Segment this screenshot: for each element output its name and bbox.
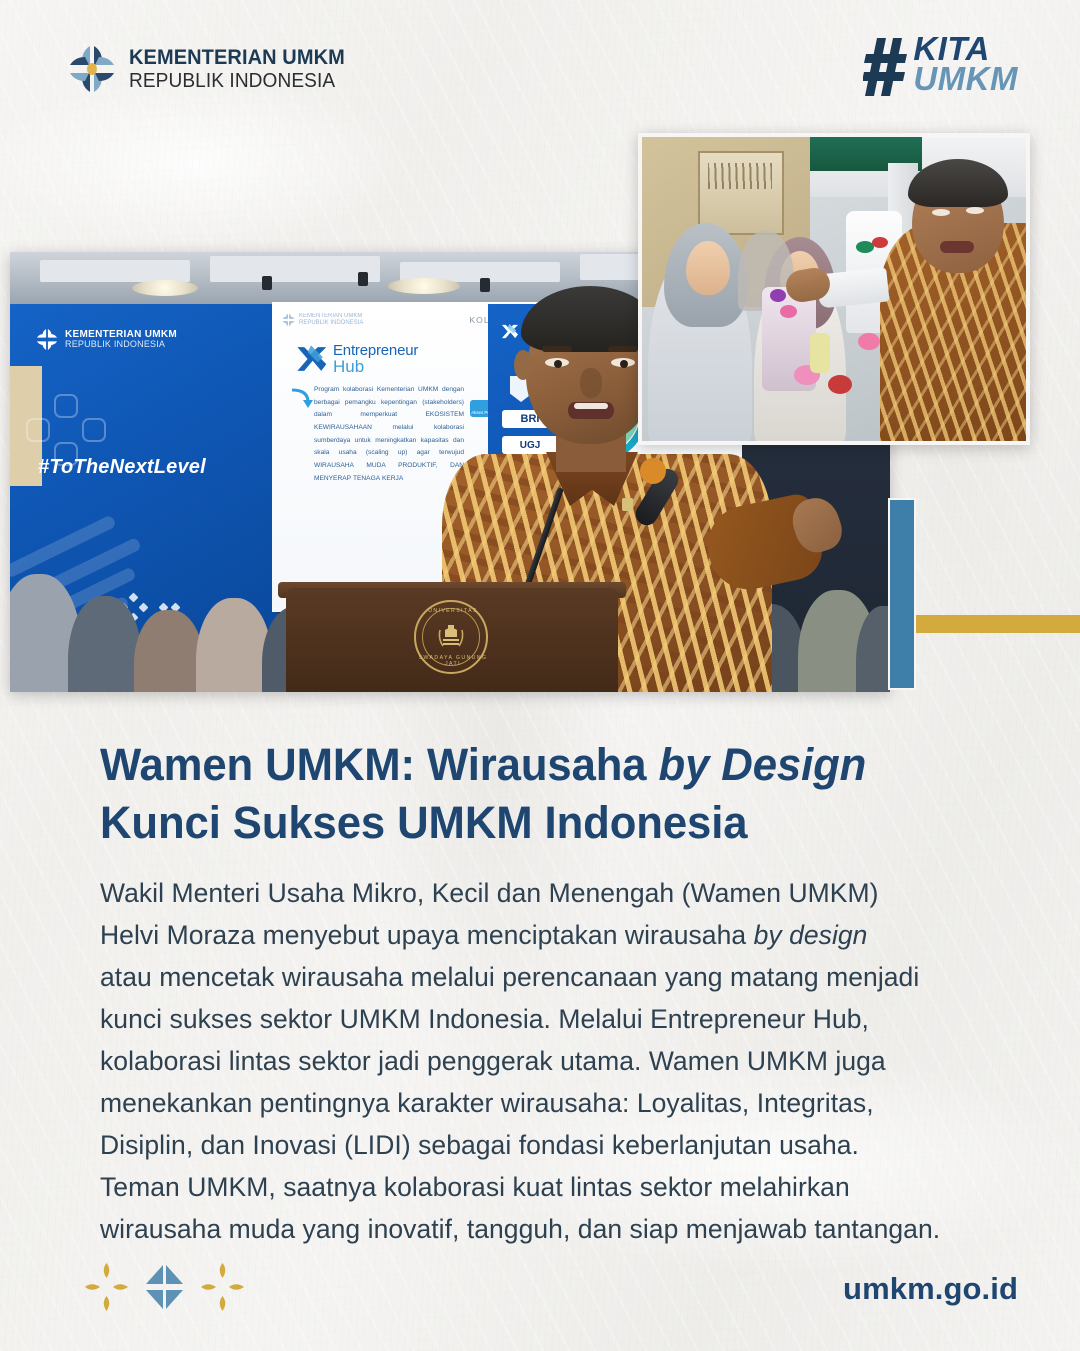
blue-diamond-cluster-icon bbox=[143, 1263, 186, 1311]
blue-accent-bar bbox=[888, 498, 916, 690]
speaker-pupil-left bbox=[554, 360, 562, 368]
entrepreneur-hub-logo: Entrepreneur Hub bbox=[294, 342, 418, 376]
slide-org-text: KEMENTERIAN UMKM REPUBLIK INDONESIA bbox=[299, 313, 363, 326]
speaker-brow-right bbox=[608, 346, 638, 352]
body-line: menekankan pentingnya karakter wirausaha… bbox=[100, 1082, 960, 1124]
inset-minister-eye bbox=[966, 207, 984, 214]
eh-word-hub: Hub bbox=[333, 358, 418, 375]
footer-ornaments bbox=[85, 1263, 244, 1311]
eh-word-entrepreneur: Entrepreneur bbox=[333, 343, 418, 358]
page-title: Wamen UMKM: Wirausaha by Design Kunci Su… bbox=[100, 736, 980, 852]
curved-arrow-icon bbox=[290, 388, 314, 408]
entrepreneur-hub-wordmark: Entrepreneur Hub bbox=[333, 343, 418, 375]
kementerian-umkm-brand-lockup: KEMENTERIAN UMKM REPUBLIK INDONESIA bbox=[68, 44, 361, 94]
body-line: Helvi Moraza menyebut upaya menciptakan … bbox=[100, 914, 960, 956]
inset-visitor-face bbox=[686, 241, 730, 295]
kementerian-umkm-emblem-icon bbox=[282, 313, 295, 327]
gold-accent-bar bbox=[888, 615, 1080, 633]
body-line: atau mencetak wirausaha melalui perencan… bbox=[100, 956, 960, 998]
kementerian-umkm-emblem-icon bbox=[36, 328, 58, 351]
backdrop-logo-text: KEMENTERIAN UMKM REPUBLIK INDONESIA bbox=[65, 330, 177, 350]
body-text-plain: Helvi Moraza menyebut upaya menciptakan … bbox=[100, 920, 754, 950]
speaker-brow-left bbox=[542, 346, 572, 352]
headline-text-plain: Wamen UMKM: Wirausaha bbox=[100, 739, 659, 790]
body-line: kunci sukses sektor UMKM Indonesia. Mela… bbox=[100, 998, 960, 1040]
hashtag-umkm: UMKM bbox=[913, 64, 1018, 94]
speaker-nose bbox=[580, 368, 602, 398]
seal-text-top: UNIVERSITAS bbox=[416, 608, 490, 614]
backdrop-ministry-logo: KEMENTERIAN UMKM REPUBLIK INDONESIA bbox=[36, 328, 177, 351]
headline-line-1: Wamen UMKM: Wirausaha by Design bbox=[100, 736, 954, 794]
seal-text-bottom: SWADAYA GUNUNG JATI bbox=[416, 655, 490, 667]
headline-line-2: Kunci Sukses UMKM Indonesia bbox=[100, 794, 954, 852]
kementerian-umkm-emblem-icon bbox=[68, 44, 116, 94]
poster-header: KEMENTERIAN UMKM REPUBLIK INDONESIA KITA… bbox=[0, 0, 1080, 130]
slide-ministry-logo: KEMENTERIAN UMKM REPUBLIK INDONESIA bbox=[282, 313, 363, 327]
kita-umkm-hashtag-lockup: KITA UMKM bbox=[863, 34, 1018, 98]
body-line: Teman UMKM, saatnya kolaborasi kuat lint… bbox=[100, 1166, 960, 1208]
podium: UNIVERSITAS SWADAYA GUNUNG JATI FAKULTAS… bbox=[286, 588, 618, 692]
wamen-umkm-receiving-craft-bouquet-photo bbox=[638, 133, 1030, 445]
inset-minister-mouth bbox=[940, 241, 974, 253]
entrepreneur-hub-x-icon bbox=[294, 342, 328, 376]
hash-icon bbox=[863, 36, 909, 98]
university-seal: UNIVERSITAS SWADAYA GUNUNG JATI bbox=[414, 600, 488, 674]
website-url: umkm.go.id bbox=[843, 1271, 1018, 1307]
gold-diamond-cluster-icon bbox=[85, 1263, 128, 1311]
inset-calligraphy-art bbox=[708, 163, 772, 189]
speaker-ear-left bbox=[514, 350, 532, 380]
backdrop-logo-line2: REPUBLIK INDONESIA bbox=[65, 340, 177, 349]
slide-org-line2: REPUBLIK INDONESIA bbox=[299, 320, 363, 327]
body-text-emphasis: by design bbox=[754, 920, 868, 950]
body-line: Wakil Menteri Usaha Mikro, Kecil dan Men… bbox=[100, 872, 960, 914]
headline-text-emphasis: by Design bbox=[659, 739, 867, 790]
slide-org-line1: KEMENTERIAN UMKM bbox=[299, 313, 363, 320]
poster-footer: umkm.go.id bbox=[0, 1231, 1080, 1351]
backdrop-hashtag: #ToTheNextLevel bbox=[38, 456, 206, 479]
article-body: Wakil Menteri Usaha Mikro, Kecil dan Men… bbox=[100, 872, 960, 1250]
brand-line-2: REPUBLIK INDONESIA bbox=[129, 71, 345, 92]
brand-text-block: KEMENTERIAN UMKM REPUBLIK INDONESIA bbox=[129, 47, 361, 92]
body-line: kolaborasi lintas sektor jadi penggerak … bbox=[100, 1040, 960, 1082]
speaker-pupil-right bbox=[620, 360, 628, 368]
brand-line-1: KEMENTERIAN UMKM bbox=[129, 47, 345, 69]
gold-diamond-cluster-icon bbox=[201, 1263, 244, 1311]
inset-minister-eye bbox=[932, 209, 950, 216]
body-line: Disiplin, dan Inovasi (LIDI) sebagai fon… bbox=[100, 1124, 960, 1166]
hashtag-words: KITA UMKM bbox=[913, 34, 1018, 95]
speaker-lapel-pin bbox=[622, 498, 633, 511]
speaker-teeth bbox=[574, 403, 608, 409]
social-media-poster: KEMENTERIAN UMKM REPUBLIK INDONESIA KITA… bbox=[0, 0, 1080, 1351]
